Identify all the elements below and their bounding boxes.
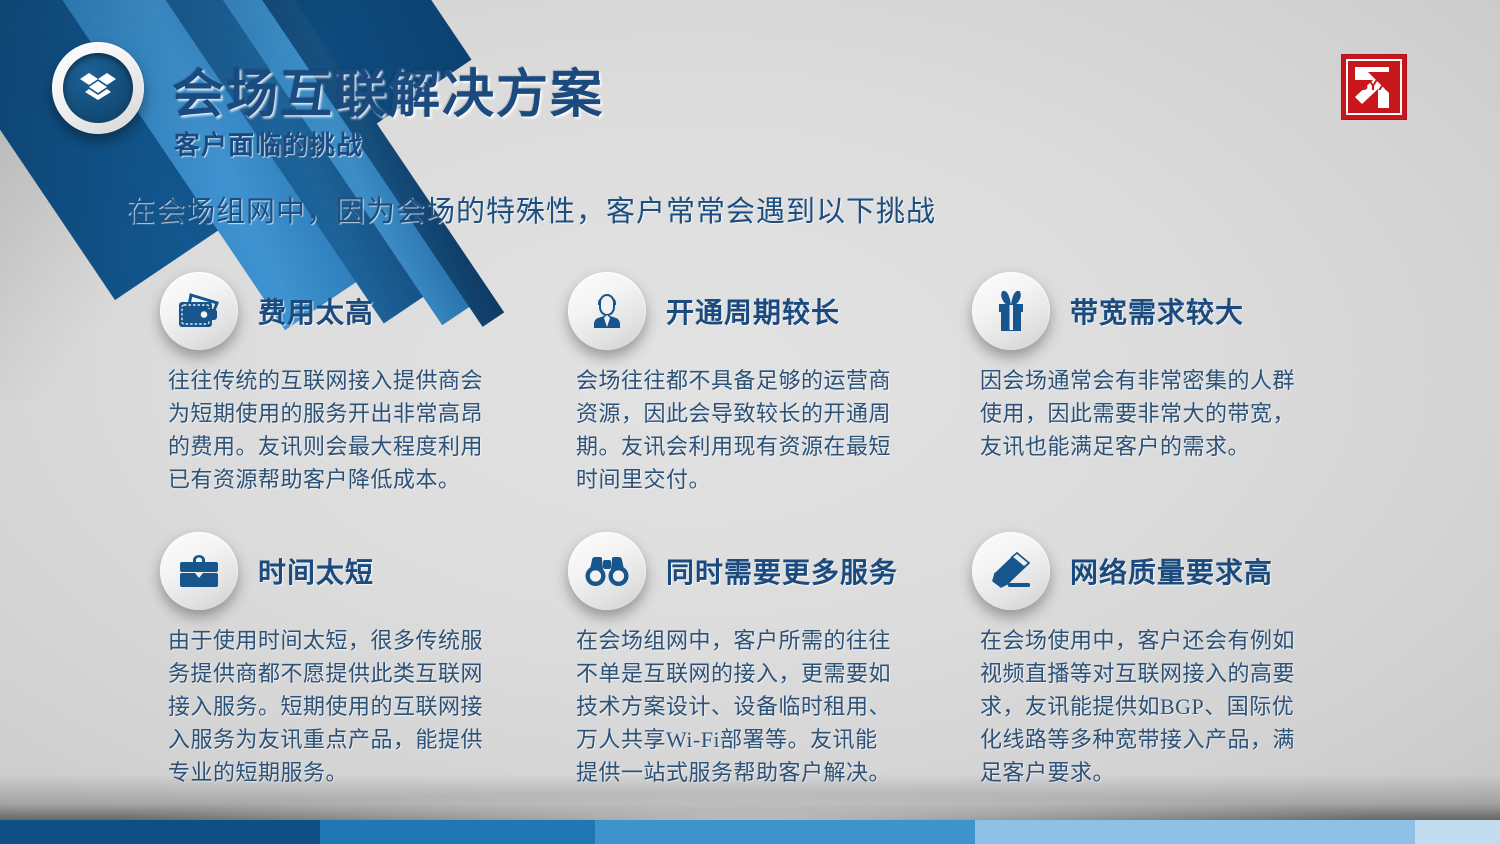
card-title: 费用太高 (258, 291, 374, 331)
syx-logo-text: SYX (1358, 77, 1388, 94)
binoculars-icon (584, 554, 630, 588)
card-icon-circle (160, 532, 238, 610)
dropbox-diamond-icon (80, 71, 116, 105)
bottom-shadow (0, 774, 1500, 820)
bottom-bar-segment (975, 820, 1415, 844)
card-title: 带宽需求较大 (1070, 291, 1244, 331)
briefcase-icon (177, 553, 221, 589)
card-body: 因会场通常会有非常密集的人群使用，因此需要非常大的带宽，友讯也能满足客户的需求。 (980, 364, 1298, 463)
page-subtitle: 客户面临的挑战 (174, 125, 363, 162)
card-body: 由于使用时间太短，很多传统服务提供商都不愿提供此类互联网接入服务。短期使用的互联… (168, 624, 486, 789)
businessman-icon (587, 291, 627, 331)
card-body: 往往传统的互联网接入提供商会为短期使用的服务开出非常高昂的费用。友讯则会最大程度… (168, 364, 486, 496)
bottom-bar-segment (1415, 820, 1500, 844)
page-title: 会场互联解决方案 (172, 52, 604, 127)
card-title: 网络质量要求高 (1070, 551, 1273, 591)
card-icon-circle (568, 272, 646, 350)
brand-badge (52, 42, 144, 134)
bottom-bar-segment (595, 820, 975, 844)
card-icon-circle (568, 532, 646, 610)
card-icon-circle (972, 272, 1050, 350)
bottom-bar-segment (0, 820, 320, 844)
card-body: 在会场组网中，客户所需的往往不单是互联网的接入，更需要如技术方案设计、设备临时租… (576, 624, 894, 789)
card-title: 时间太短 (258, 551, 374, 591)
intro-line: 在会场组网中，因为会场的特殊性，客户常常会遇到以下挑战 (126, 188, 936, 230)
syx-arrow-icon: SYX (1342, 55, 1408, 121)
card-title: 同时需要更多服务 (666, 551, 898, 591)
slide-canvas: 会场互联解决方案 客户面临的挑战 在会场组网中，因为会场的特殊性，客户常常会遇到… (0, 0, 1500, 844)
card-title: 开通周期较长 (666, 291, 840, 331)
bottom-bar-segment (320, 820, 595, 844)
card-icon-circle (972, 532, 1050, 610)
gift-box-icon (994, 290, 1028, 332)
badge-inner-disc (63, 53, 133, 123)
wallet-icon (177, 292, 221, 330)
bottom-color-bar (0, 820, 1500, 844)
card-icon-circle (160, 272, 238, 350)
eraser-icon (989, 551, 1033, 591)
card-body: 会场往往都不具备足够的运营商资源，因此会导致较长的开通周期。友讯会利用现有资源在… (576, 364, 894, 496)
card-body: 在会场使用中，客户还会有例如视频直播等对互联网接入的高要求，友讯能提供如BGP、… (980, 624, 1298, 789)
syx-logo: SYX (1341, 54, 1407, 120)
